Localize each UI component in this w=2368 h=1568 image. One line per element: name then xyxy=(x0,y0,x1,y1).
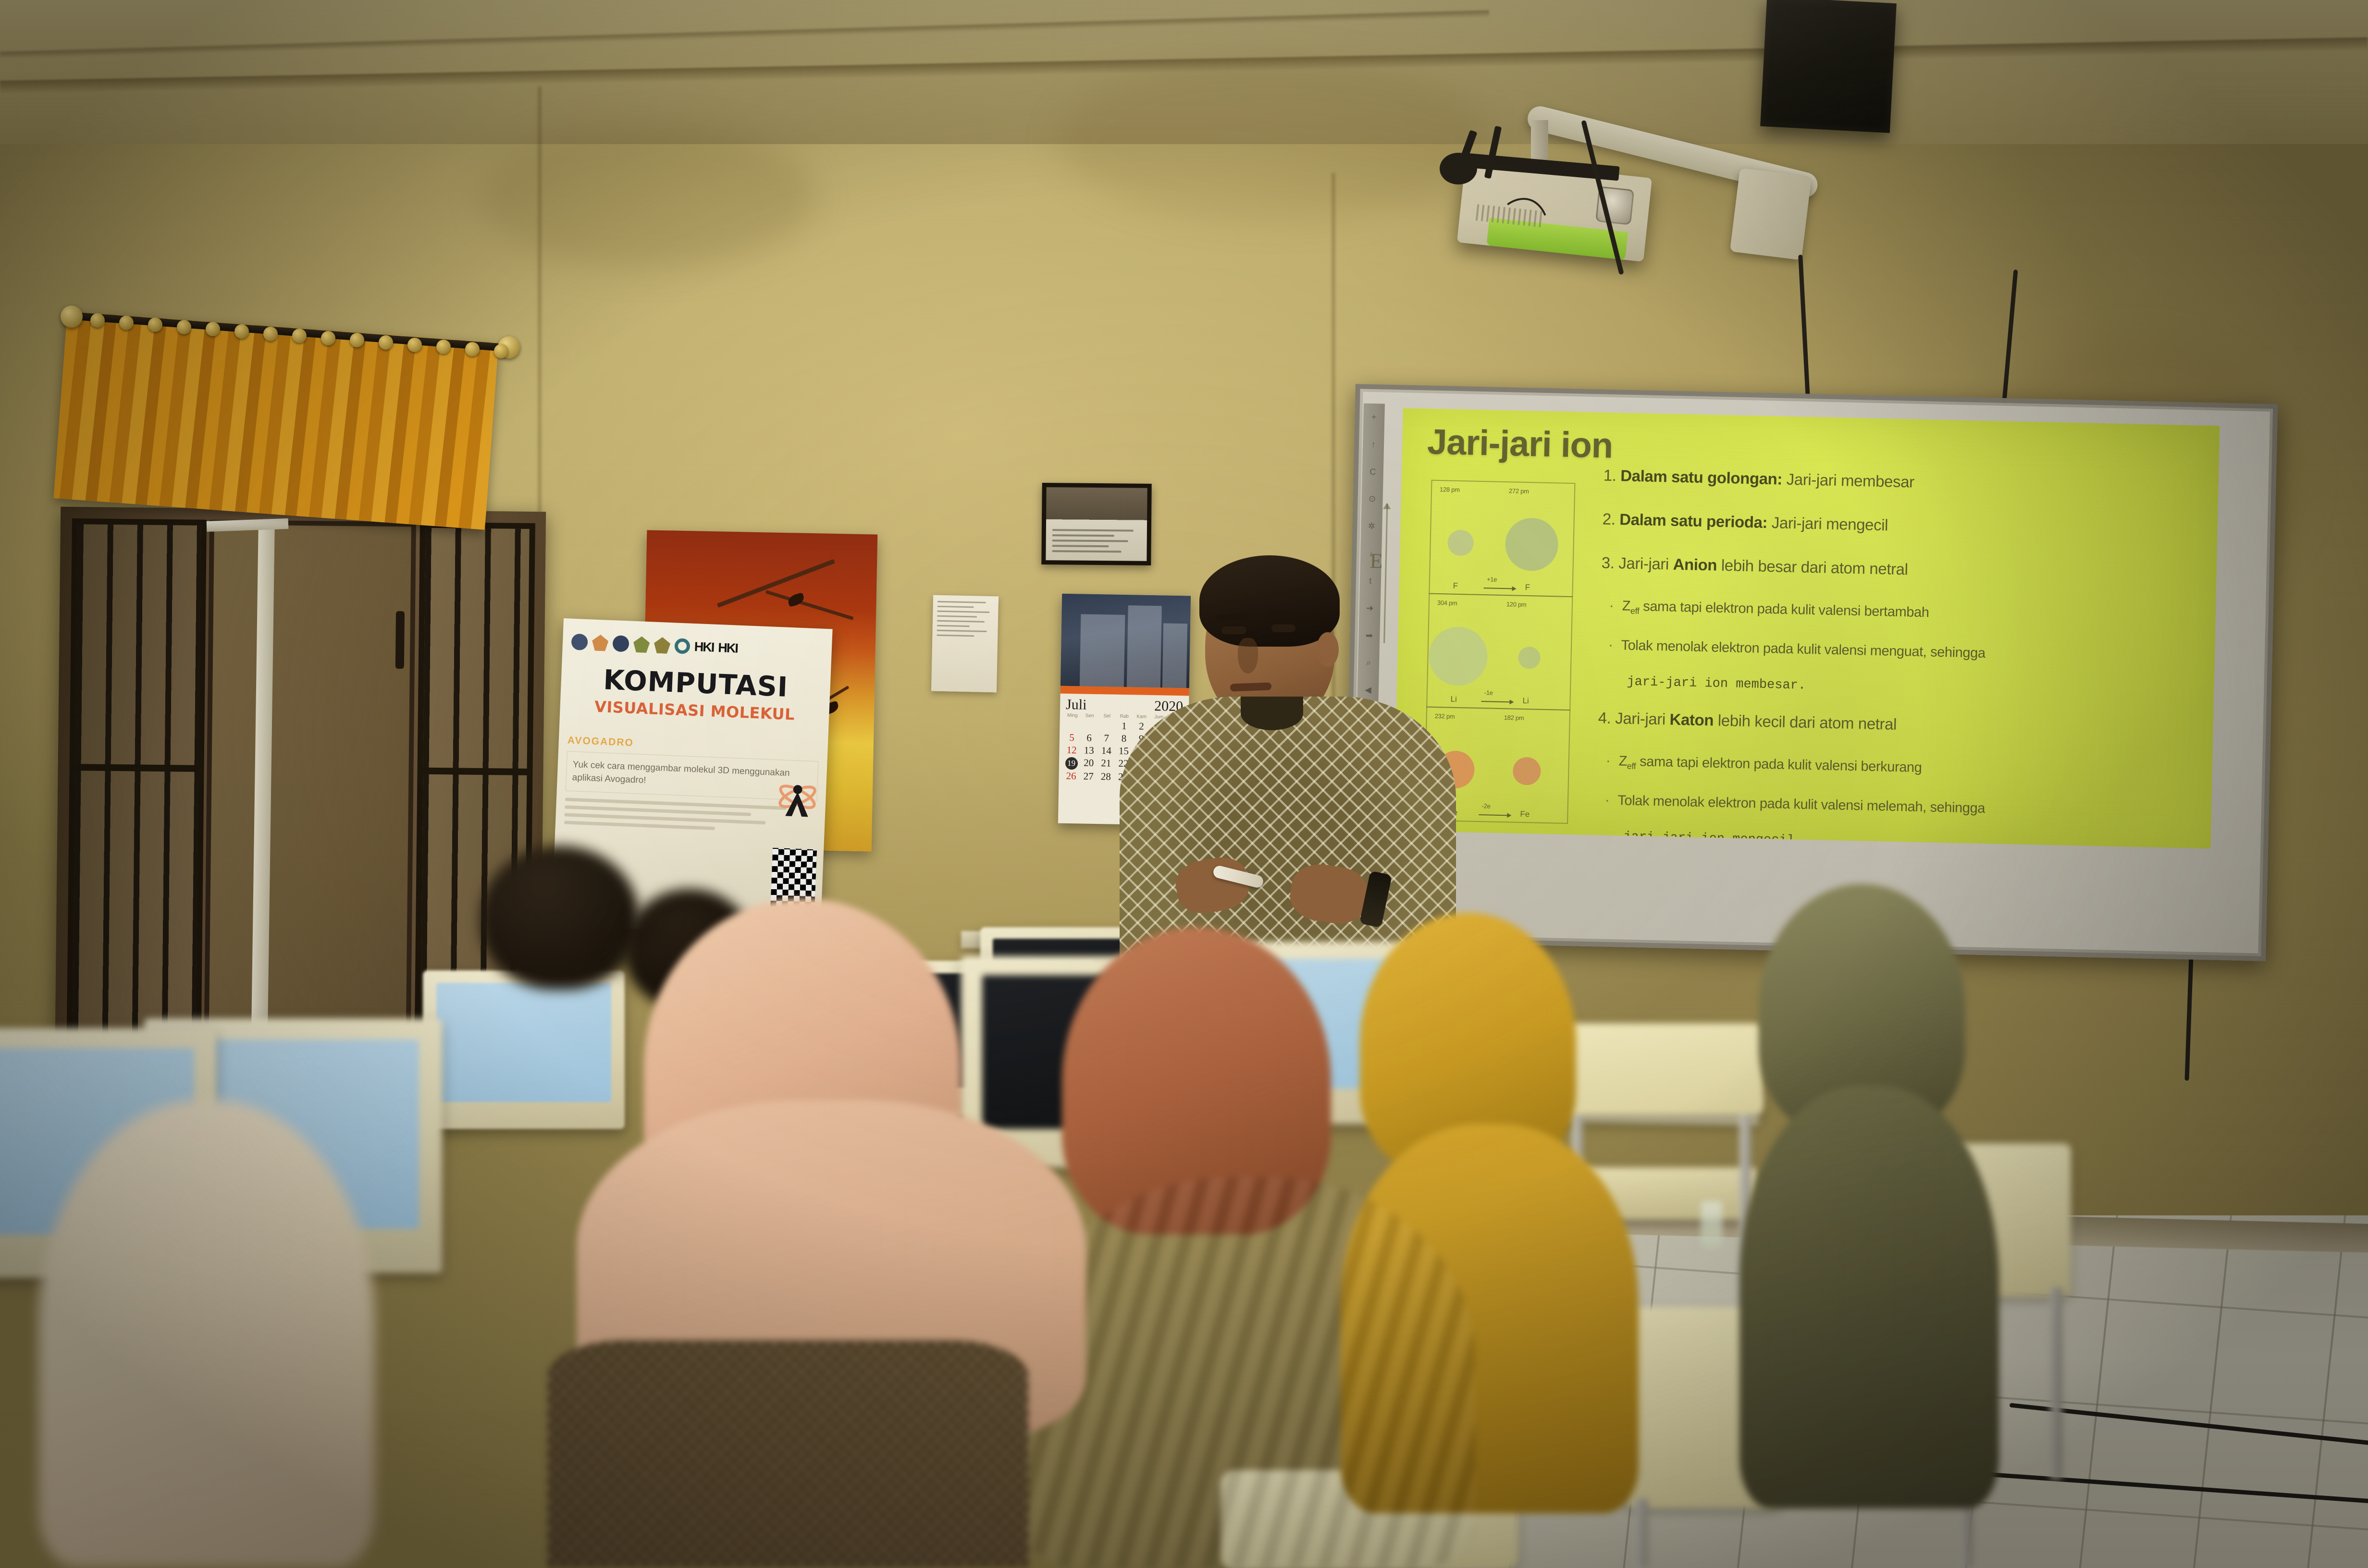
chem-dot-logo-icon xyxy=(571,634,588,650)
rail-tick-icon: ⊙ xyxy=(1369,494,1376,504)
calendar-day: 14 xyxy=(1098,745,1115,757)
slide-bullet-2: 2. Dalam satu perioda: Jari-jari mengeci… xyxy=(1602,510,2189,541)
curtain-ring xyxy=(379,335,393,350)
curtain-ring xyxy=(465,342,480,356)
figure-label-right: F xyxy=(1525,583,1530,592)
chair-leg xyxy=(2050,1287,2062,1480)
student-torso xyxy=(1739,1086,1999,1508)
calendar-marked-day: 19 xyxy=(1065,757,1077,770)
rail-tick-icon: + xyxy=(1371,412,1377,422)
hijab-head-covering xyxy=(38,1100,375,1568)
wall-notice-sheet xyxy=(931,595,999,693)
curtain-ring xyxy=(436,340,451,354)
calendar-day: 13 xyxy=(1080,744,1098,757)
figure-dimension-right: 120 pm xyxy=(1506,600,1527,608)
calendar-day-empty xyxy=(1081,719,1098,732)
calendar-weekday: Ming xyxy=(1064,713,1081,719)
calendar-day: 12 xyxy=(1063,744,1080,757)
figure-transform-arrow-icon xyxy=(1481,701,1513,702)
slide-mono-anion: jari-jari ion membesar. xyxy=(1627,675,2185,702)
calendar-weekday: Sen xyxy=(1081,713,1098,719)
curtain-ring xyxy=(90,313,105,328)
projected-slide: Jari-jari ion 128 pm272 pmFF+1e304 pm120… xyxy=(1394,408,2220,848)
certificate-line xyxy=(1052,539,1128,542)
bullet-text: Jari-jari membesar xyxy=(1786,470,1914,491)
certificate-line xyxy=(1052,534,1114,537)
whiteboard-with-projection: +↑C⊙✲↓t➜➡⌕◀♦✦▼↔/×↘▮ e M E P Jari-jari io… xyxy=(1344,384,2278,961)
slide-bullet-list: 1. Dalam satu golongan: Jari-jari membes… xyxy=(1595,466,2190,849)
presenter-hair xyxy=(1199,555,1340,647)
projector-wall-plate xyxy=(1730,168,1812,260)
hki-logo-icon-2: HKI xyxy=(718,640,738,656)
kimia-logo-icon xyxy=(612,635,629,652)
bullet-prefix: Jari-jari xyxy=(1618,554,1669,573)
figure-dimension-left: 128 pm xyxy=(1440,486,1460,493)
calendar-day: 7 xyxy=(1098,732,1115,745)
figure-charge-label: -1e xyxy=(1484,689,1493,696)
student-batik-skirt xyxy=(548,1340,1028,1568)
presenter-ear xyxy=(1317,632,1339,667)
ring-logo-icon xyxy=(674,638,690,654)
bullet-strong: Katon xyxy=(1669,710,1714,729)
pentagon-logo-icon xyxy=(633,636,650,653)
wall-corner-seam xyxy=(537,86,542,519)
curtain-ring xyxy=(263,327,278,341)
sub-bullet-marker: · xyxy=(1609,598,1614,613)
painting-branch xyxy=(765,590,854,620)
calendar-day: 28 xyxy=(1098,771,1115,783)
rail-tick-icon: C xyxy=(1369,466,1376,477)
notice-line xyxy=(937,630,987,632)
notice-line xyxy=(937,601,987,603)
bullet-strong: Dalam satu golongan: xyxy=(1620,466,1782,488)
bullet-strong: Anion xyxy=(1673,555,1717,574)
molecule-logo-icon xyxy=(592,634,608,651)
calendar-weekday: Sel xyxy=(1098,713,1116,719)
student-peach-hijab xyxy=(519,898,1115,1568)
presenter-eye-left xyxy=(1221,626,1246,634)
rail-tick-icon: ✲ xyxy=(1368,521,1376,531)
rail-tick-icon: ↑ xyxy=(1371,440,1375,450)
bullet-number: 2. xyxy=(1602,510,1616,528)
zeff-symbol: Zeff xyxy=(1618,753,1636,769)
slide-subbullet-kation-2: · Tolak menolak elektron pada kulit vale… xyxy=(1605,792,2183,821)
sub-bullet-text: Zeff sama tapi elektron pada kulit valen… xyxy=(1618,753,1922,775)
certificate-line xyxy=(1052,545,1109,547)
slide-bullet-4: 4. Jari-jari Katon lebih kecil dari atom… xyxy=(1598,709,2184,740)
sub-bullet-text: Zeff sama tapi elektron pada kulit valen… xyxy=(1622,598,1929,620)
curtain-ring xyxy=(292,329,307,343)
student-cream-hijab xyxy=(0,1100,481,1568)
sub-bullet-text: Tolak menolak elektron pada kulit valens… xyxy=(1617,793,1985,816)
calendar-day: 19 xyxy=(1063,757,1080,770)
presenter-nose xyxy=(1238,638,1258,674)
figure-charge-label: +1e xyxy=(1487,576,1497,583)
calendar-day: 20 xyxy=(1080,757,1098,770)
presenter-mouth xyxy=(1230,683,1272,692)
door-handle[interactable] xyxy=(395,611,405,669)
wall-speaker xyxy=(1760,0,1897,133)
slide-subbullet-kation-1: · Zeff sama tapi elektron pada kulit val… xyxy=(1605,753,2183,784)
bullet-text: Jari-jari mengecil xyxy=(1772,514,1888,534)
certificate-line xyxy=(1052,529,1134,531)
notice-line xyxy=(937,615,977,618)
bullet-number: 3. xyxy=(1601,553,1615,572)
figure-charge-label: -2e xyxy=(1482,802,1491,809)
curtain-ring xyxy=(234,324,249,339)
painting-branch xyxy=(717,559,835,608)
pentagon-logo-icon-2 xyxy=(654,637,670,654)
poster-line xyxy=(564,821,715,831)
notice-line xyxy=(937,635,974,637)
figure-transform-arrow-icon xyxy=(1484,588,1516,589)
calendar-day: 5 xyxy=(1063,732,1081,744)
calendar-day: 26 xyxy=(1062,770,1080,783)
sub-bullet-marker: · xyxy=(1608,637,1613,653)
hki-logo-icon: HKI xyxy=(694,639,714,655)
calendar-day: 6 xyxy=(1081,732,1098,744)
water-bottle[interactable] xyxy=(1701,1201,1722,1247)
figure-atom-right xyxy=(1505,517,1558,571)
figure-atom-right xyxy=(1518,647,1541,669)
door-leaf-center xyxy=(204,520,416,1078)
notice-line xyxy=(937,606,974,608)
sub-bullet-marker: · xyxy=(1605,793,1610,808)
bullet-prefix: Jari-jari xyxy=(1615,709,1665,728)
notice-line xyxy=(937,625,970,627)
curtain-ring xyxy=(407,338,422,352)
figure-atom-right xyxy=(1513,757,1541,785)
curtain-ring xyxy=(177,320,191,334)
presenter-eye-right xyxy=(1271,625,1295,632)
slide-bullet-3: 3. Jari-jari Anion lebih besar dari atom… xyxy=(1601,553,2188,585)
painting-bird xyxy=(787,592,805,607)
figure-dimension-right: 182 pm xyxy=(1504,714,1524,722)
slide-subbullet-anion-1: · Zeff sama tapi elektron pada kulit val… xyxy=(1609,598,2187,628)
student-olive-hijab xyxy=(1739,884,1999,1508)
door-grille-left xyxy=(66,518,207,1076)
bullet-strong: Dalam satu perioda: xyxy=(1619,510,1768,531)
figure-label-right: Li xyxy=(1522,696,1529,706)
zeff-subscript: eff xyxy=(1630,606,1640,615)
calendar-day-empty xyxy=(1063,719,1081,732)
zeff-symbol: Zeff xyxy=(1622,598,1640,614)
presenter-brow-right xyxy=(1268,611,1301,618)
bullet-text: lebih besar dari atom netral xyxy=(1721,556,1908,578)
curtain-ring xyxy=(119,316,134,330)
curtain-finial-left xyxy=(61,306,83,328)
projector-knob xyxy=(1440,153,1477,184)
calendar-day-empty xyxy=(1098,720,1115,732)
slide-title: Jari-jari ion xyxy=(1427,421,1613,465)
bullet-text: lebih kecil dari atom netral xyxy=(1718,711,1897,733)
curtain-ring xyxy=(321,331,335,345)
zeff-subscript: eff xyxy=(1627,761,1636,771)
poster-logo-row: HKI HKI xyxy=(571,629,824,664)
figure-transform-arrow-icon xyxy=(1479,814,1510,816)
certificate-line xyxy=(1052,550,1121,552)
figure-dimension-right: 272 pm xyxy=(1509,487,1529,495)
notice-line xyxy=(937,620,985,623)
curtain-ring xyxy=(148,318,162,332)
presenter-collar xyxy=(1241,697,1303,730)
sub-bullet-marker: · xyxy=(1606,753,1611,769)
notice-line xyxy=(937,611,989,613)
avogadro-logo-icon xyxy=(776,780,819,819)
bullet-number: 1. xyxy=(1603,466,1616,485)
figure-label-right: Fe xyxy=(1520,809,1529,819)
calendar-day: 21 xyxy=(1098,757,1115,771)
calendar-day: 27 xyxy=(1080,770,1097,783)
calendar-month: Juli xyxy=(1066,697,1087,713)
sub-bullet-text: Tolak menolak elektron pada kulit valens… xyxy=(1621,637,1986,661)
classroom-photo: +↑C⊙✲↓t➜➡⌕◀♦✦▼↔/×↘▮ e M E P Jari-jari io… xyxy=(0,0,2368,1568)
slide-subbullet-anion-2: · Tolak menolak elektron pada kulit vale… xyxy=(1608,637,2186,666)
bullet-number: 4. xyxy=(1598,709,1611,727)
